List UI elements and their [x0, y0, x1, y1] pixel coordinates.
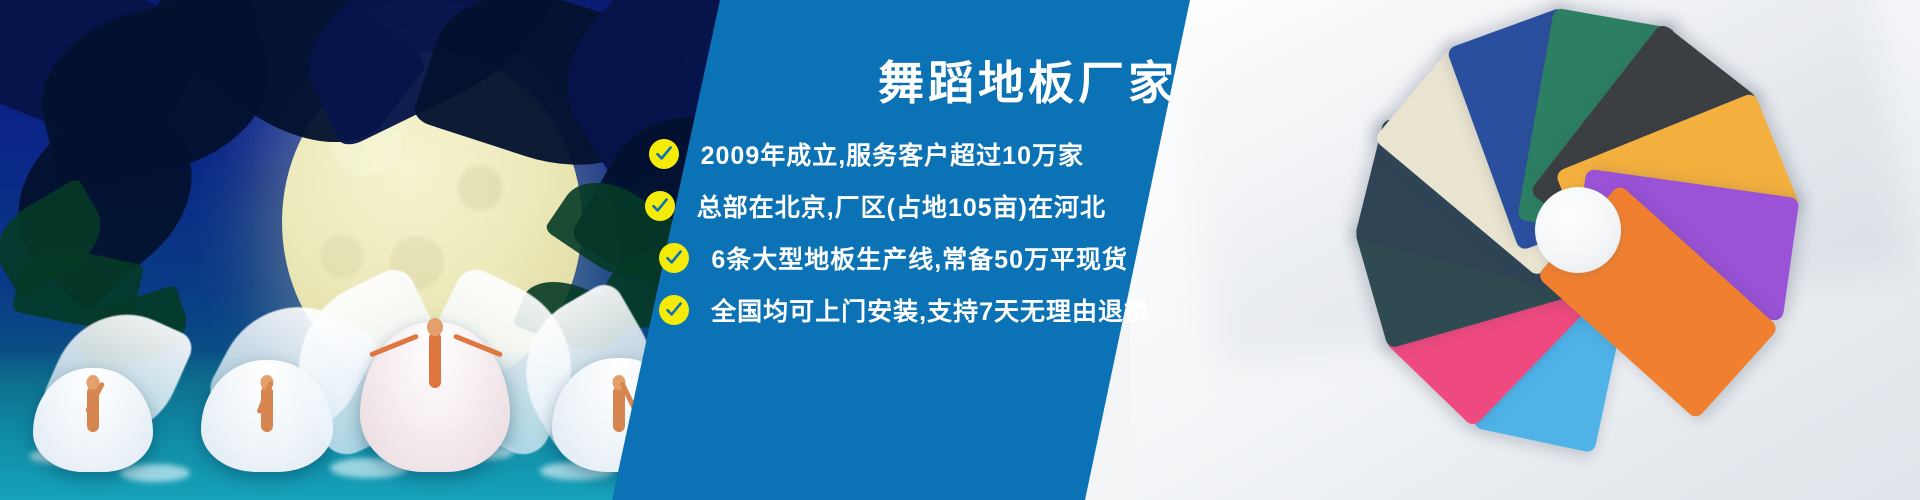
- list-item: 6条大型地板生产线,常备50万平现货: [659, 240, 1128, 276]
- feature-text: 全国均可上门安装,支持7天无理由退换: [711, 292, 1150, 328]
- list-item: 全国均可上门安装,支持7天无理由退换: [659, 292, 1150, 328]
- promo-banner: 舞蹈地板厂家 2009年成立,服务客户超过10万家 总部在北京,厂区(占地105…: [0, 0, 1920, 500]
- banner-copy: 舞蹈地板厂家 2009年成立,服务客户超过10万家 总部在北京,厂区(占地105…: [0, 0, 1190, 500]
- list-item: 总部在北京,厂区(占地105亩)在河北: [645, 188, 1106, 224]
- check-circle-icon: [649, 139, 679, 169]
- feature-text: 6条大型地板生产线,常备50万平现货: [711, 240, 1128, 276]
- page-title: 舞蹈地板厂家: [878, 60, 1178, 106]
- check-circle-icon: [659, 243, 689, 273]
- list-item: 2009年成立,服务客户超过10万家: [649, 136, 1084, 172]
- feature-text: 总部在北京,厂区(占地105亩)在河北: [697, 188, 1106, 224]
- floor-sample-fan-photo: [1130, 0, 1920, 500]
- feature-text: 2009年成立,服务客户超过10万家: [701, 136, 1084, 172]
- sample-wheel-hub: [1535, 187, 1621, 273]
- check-circle-icon: [659, 295, 689, 325]
- feature-list: 2009年成立,服务客户超过10万家 总部在北京,厂区(占地105亩)在河北 6…: [645, 136, 1190, 328]
- sample-color-wheel: [1318, 0, 1838, 490]
- check-circle-icon: [645, 191, 675, 221]
